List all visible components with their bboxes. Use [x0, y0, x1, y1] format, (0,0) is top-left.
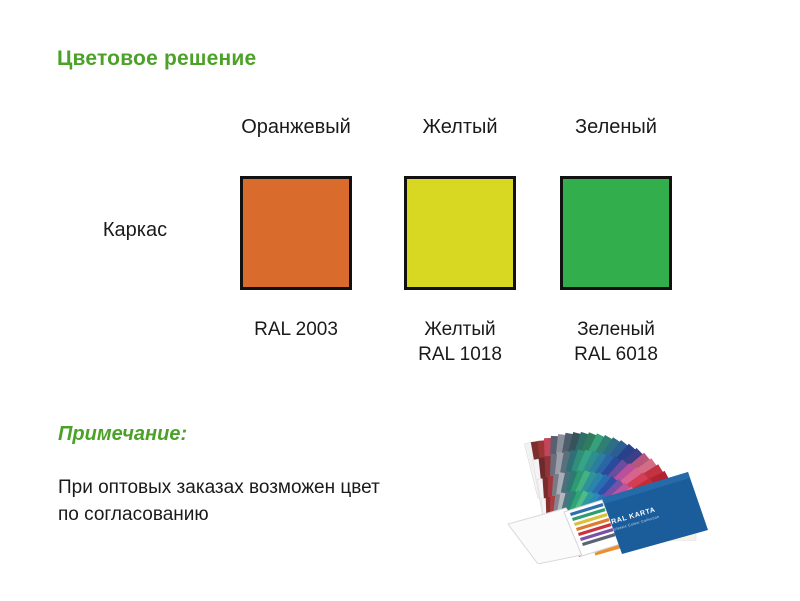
- slide-canvas: Цветовое решение Оранжевый Желтый Зелены…: [0, 0, 800, 601]
- swatch-caption-orange: RAL 2003: [228, 317, 364, 342]
- color-swatch-orange: [240, 176, 352, 290]
- note-body-text: При оптовых заказах возможен цвет по сог…: [58, 474, 478, 528]
- ral-fan-deck-illustration: RAL KARTA Classic Colour Collection: [492, 412, 708, 564]
- column-header-yellow: Желтый: [396, 116, 524, 139]
- color-swatch-yellow: [404, 176, 516, 290]
- row-label-frame: Каркас: [60, 219, 210, 242]
- swatch-caption-green: Зеленый RAL 6018: [548, 317, 684, 367]
- color-swatch-green: [560, 176, 672, 290]
- swatch-caption-yellow: Желтый RAL 1018: [392, 317, 528, 367]
- column-header-orange: Оранжевый: [232, 116, 360, 139]
- ral-fan-deck-image: RAL KARTA Classic Colour Collection: [492, 412, 708, 564]
- note-heading: Примечание:: [58, 423, 187, 446]
- column-header-green: Зеленый: [552, 116, 680, 139]
- page-title: Цветовое решение: [57, 47, 256, 71]
